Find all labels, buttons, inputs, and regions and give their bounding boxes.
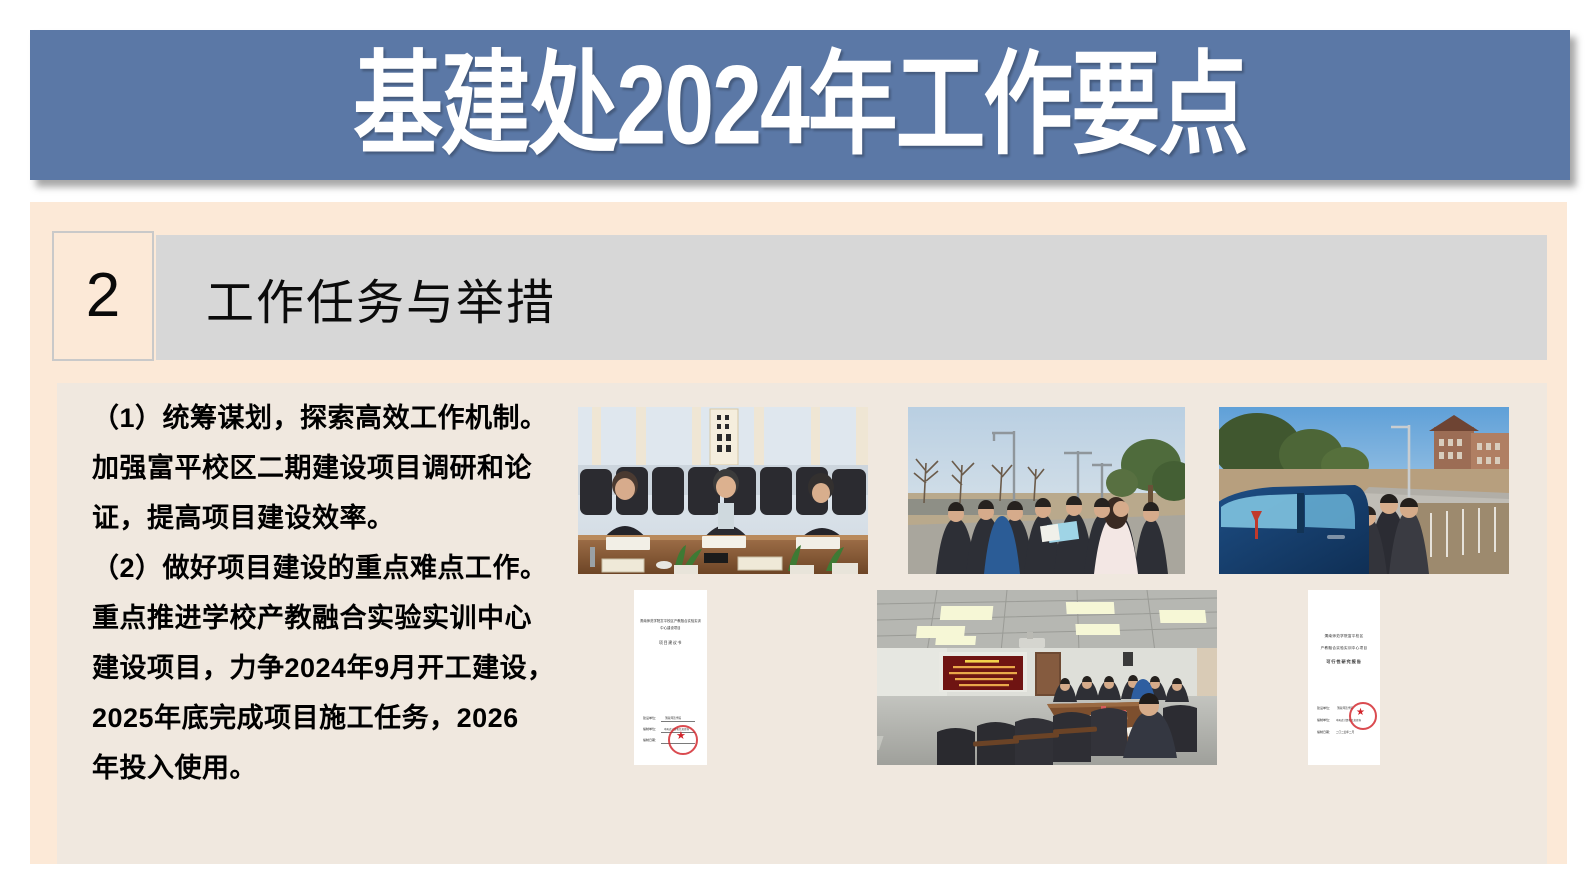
feasibility-field-label-3: 编制日期： bbox=[1317, 730, 1332, 734]
content-panel: 2 工作任务与举措 （1）统筹谋划，探索高效工作机制。 加强富平校区二期建设项目… bbox=[30, 202, 1567, 864]
feasibility-field-label-1: 建设单位： bbox=[1317, 706, 1332, 710]
section-heading: 工作任务与举措 bbox=[206, 263, 556, 333]
body-panel: （1）统筹谋划，探索高效工作机制。 加强富平校区二期建设项目调研和论 证，提高项… bbox=[57, 383, 1547, 864]
feasibility-title-line-1: 渭南师范学院富平校区 bbox=[1325, 634, 1364, 639]
seal-star-icon: ★ bbox=[1356, 708, 1365, 718]
body-line-7: 2025年底完成项目施工任务，2026 bbox=[92, 693, 602, 743]
slide-title-banner: 基建处2024年工作要点 bbox=[30, 30, 1570, 180]
feasibility-report-document: 渭南师范学院富平校区 产教融合实验实训中心项目 可行性研究报告 建设单位： 渭南… bbox=[1308, 590, 1380, 765]
body-line-4: （2）做好项目建设的重点难点工作。 bbox=[92, 543, 602, 593]
proposal-field-label-3: 编制日期： bbox=[643, 738, 658, 742]
body-line-1: （1）统筹谋划，探索高效工作机制。 bbox=[92, 393, 602, 443]
proposal-field-label-2: 编制单位： bbox=[643, 727, 658, 731]
proposal-subtitle: 项目建议书 bbox=[659, 640, 682, 646]
body-line-3: 证，提高项目建设效率。 bbox=[92, 493, 602, 543]
proposal-field-label-1: 建设单位： bbox=[643, 716, 658, 720]
meeting-room-photo bbox=[578, 407, 868, 574]
project-proposal-document: 渭南师范学院富平校区产教融合实验实训 中心建设项目 项目建议书 建设单位： 渭南… bbox=[634, 590, 707, 765]
body-line-2: 加强富平校区二期建设项目调研和论 bbox=[92, 443, 602, 493]
feasibility-field-label-2: 编制单位： bbox=[1317, 718, 1332, 722]
section-heading-bar: 工作任务与举措 bbox=[156, 235, 1547, 360]
seal-star-icon: ★ bbox=[676, 731, 686, 742]
feasibility-field-value-3: 二〇二四年二月 bbox=[1336, 730, 1354, 734]
body-text-block: （1）统筹谋划，探索高效工作机制。 加强富平校区二期建设项目调研和论 证，提高项… bbox=[92, 393, 602, 793]
proposal-title-line-2: 中心建设项目 bbox=[660, 625, 680, 630]
site-survey-photo bbox=[908, 407, 1185, 574]
conference-room-photo bbox=[877, 590, 1217, 765]
slide-canvas: 基建处2024年工作要点 2 工作任务与举措 （1）统筹谋划，探索高效工作机制。… bbox=[0, 0, 1595, 895]
feasibility-title-line-2: 产教融合实验实训中心项目 bbox=[1321, 646, 1368, 651]
proposal-field-value-1: 渭南师范学院 bbox=[665, 716, 681, 720]
section-number: 2 bbox=[86, 265, 120, 327]
body-line-8: 年投入使用。 bbox=[92, 743, 602, 793]
body-line-5: 重点推进学校产教融合实验实训中心 bbox=[92, 593, 602, 643]
proposal-title-line-1: 渭南师范学院富平校区产教融合实验实训 bbox=[640, 618, 701, 623]
page-title: 基建处2024年工作要点 bbox=[353, 49, 1246, 162]
section-number-box: 2 bbox=[52, 231, 154, 361]
campus-road-photo bbox=[1219, 407, 1509, 574]
body-line-6: 建设项目，力争2024年9月开工建设， bbox=[92, 643, 602, 693]
feasibility-subtitle: 可行性研究报告 bbox=[1326, 659, 1362, 665]
